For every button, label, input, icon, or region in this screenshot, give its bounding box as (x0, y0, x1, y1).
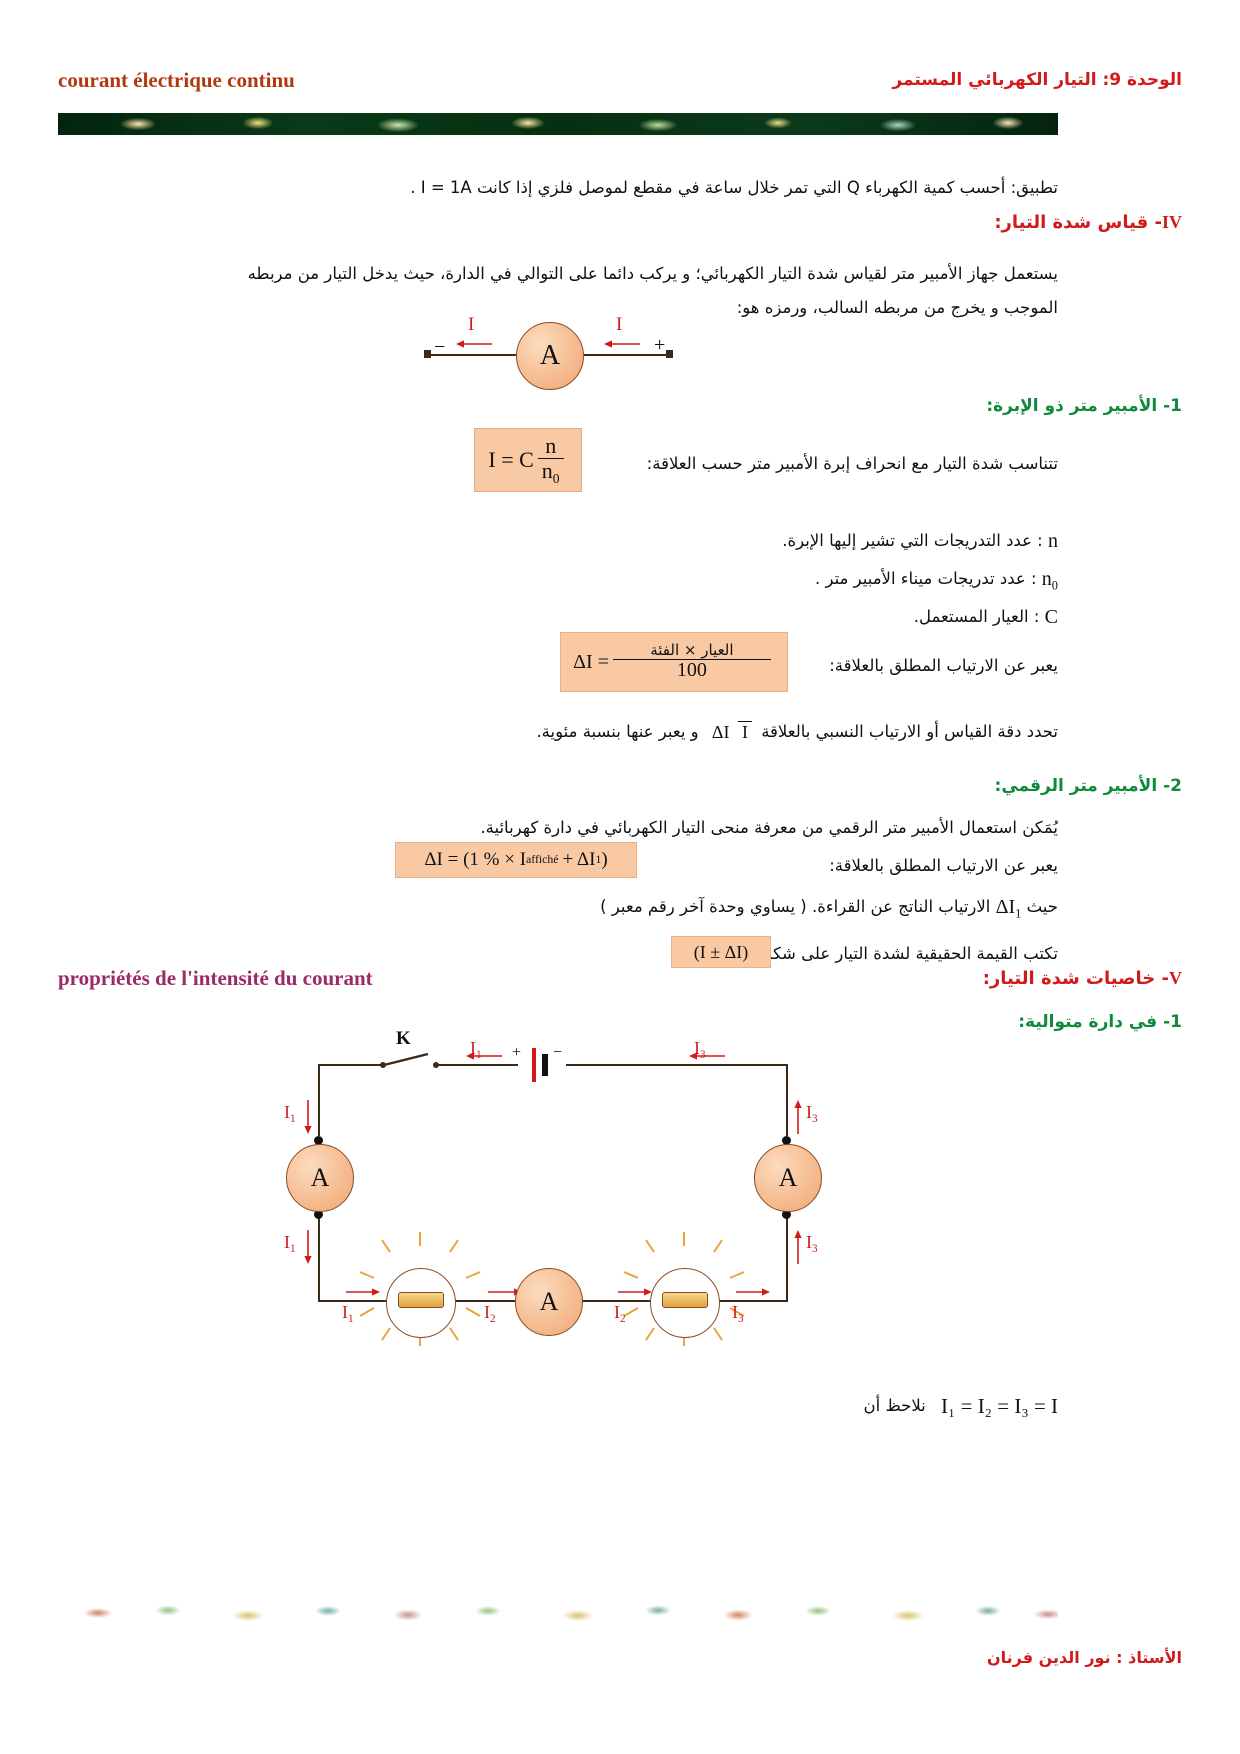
definition-C: C : العيار المستعمل. (58, 598, 1058, 637)
lamp-right-filament (662, 1292, 708, 1308)
formula-true-value-text: (I ± ΔI) (694, 942, 748, 963)
section-IV-paragraph-1: يستعمل جهاز الأمبير متر لقياس شدة التيار… (58, 258, 1058, 290)
relative-uncertainty-text-b: و يعبر عنها بنسبة مئوية. (536, 722, 698, 741)
label-I1-left-lower: I1 (284, 1232, 296, 1255)
ammeter-middle: A (515, 1268, 583, 1336)
formula-den-sub: 0 (553, 470, 560, 485)
relative-uncertainty-line: تحدد دقة القياس أو الارتياب النسبي بالعل… (58, 716, 1058, 748)
formula-relative-num: ΔI (708, 722, 734, 742)
ammeter-left: A (286, 1144, 354, 1212)
header-decorative-band (58, 113, 1058, 135)
formula-deltaI-lhs: ΔI = (573, 651, 609, 674)
proportionality-text: تتناسب شدة التيار مع انحراف إبرة الأمبير… (647, 454, 1058, 473)
header-left-title: courant électrique continu (58, 68, 295, 93)
where-prefix: حيث (1027, 897, 1058, 916)
formula-numerator: n (541, 434, 560, 457)
definition-n: n : عدد التدريجات التي تشير إليها الإبرة… (58, 522, 1058, 561)
battery-minus-label: − (553, 1044, 562, 1062)
label-current-left: I (468, 314, 474, 336)
formula-digital-uncertainty: ΔI = (1 % × Iaffiché+ ΔI1) (395, 842, 637, 878)
formula-digital-tail: + ΔI (562, 849, 595, 871)
formula-relative-uncertainty: ΔI I (708, 723, 752, 742)
observation-formula: I₁ = I₂ = I₃ = I (941, 1386, 1058, 1427)
section-V-heading: V- خاصيات شدة التيار: (983, 968, 1182, 989)
relative-uncertainty-text-a: تحدد دقة القياس أو الارتياب النسبي بالعل… (761, 722, 1058, 741)
ammeter-right-letter: A (779, 1163, 798, 1193)
where-line: حيث ΔI1 الارتياب الناتج عن القراءة. ( يس… (58, 888, 1058, 927)
formula-absolute-uncertainty: ΔI = العيار × الفئة 100 (560, 632, 788, 692)
formula-den-base: n (542, 458, 553, 483)
battery-long-plate (532, 1048, 536, 1082)
label-I3-top-sub: 3 (700, 1049, 706, 1061)
digital-ammeter-line: يُمَكن استعمال الأمبير متر الرقمي من معر… (58, 812, 1058, 844)
section-IV-heading: IV- قياس شدة التيار: (994, 212, 1182, 233)
footer-decorative-band (58, 1600, 1058, 1626)
absolute-uncertainty-line: يعبر عن الارتياب المطلق بالعلاقة: (58, 650, 1058, 682)
section-IV-title: - قياس شدة التيار: (994, 212, 1162, 233)
label-I3-rl-sub: 3 (812, 1243, 818, 1255)
application-paragraph: تطبيق: أحسب كمية الكهرباء Q التي تمر خلا… (58, 172, 1058, 204)
label-I3-bottom: I3 (732, 1302, 744, 1325)
label-I3-top: I3 (694, 1038, 706, 1061)
symbol-n0-sub: 0 (1052, 578, 1058, 592)
label-I2-bl-sub: 2 (490, 1313, 496, 1325)
symbol-n: n (1048, 522, 1058, 561)
formula-uncertainty-numerator: العيار × الفئة (646, 643, 737, 659)
formula-fraction: n n0 (538, 434, 564, 485)
footer-text: الأستاذ : نور الدين فرنان (987, 1648, 1182, 1667)
formula-digital-lhs: ΔI = (1 % × I (424, 849, 526, 871)
label-I3-b-sub: 3 (738, 1313, 744, 1325)
lamp-left-filament (398, 1292, 444, 1308)
formula-digital-sub: affiché (526, 853, 558, 867)
label-I2-br-sub: 2 (620, 1313, 626, 1325)
formula-digital-close: ) (601, 849, 607, 871)
definition-n0: n0 : عدد تدريجات ميناء الأمبير متر . (58, 560, 1058, 599)
label-I1-left-upper: I1 (284, 1102, 296, 1125)
symbol-n0-base: n (1042, 568, 1052, 590)
formula-denominator: n0 (538, 458, 564, 486)
label-I1-ll-sub: 1 (290, 1243, 296, 1255)
subsection-2-heading: 2- الأمبير متر الرقمي: (995, 776, 1182, 796)
ammeter-left-letter: A (311, 1163, 330, 1193)
section-V-number: V (1169, 968, 1182, 988)
definition-n-text: : عدد التدريجات التي تشير إليها الإبرة. (782, 531, 1042, 550)
label-I1-top: I1 (470, 1038, 482, 1061)
label-I3-ru-sub: 3 (812, 1113, 818, 1125)
battery-short-plate (542, 1054, 548, 1076)
symbol-n0: n0 (1042, 560, 1058, 599)
subsection-1-heading: 1- الأمبير متر ذو الإبرة: (986, 396, 1182, 416)
series-circuit-figure: + − K A A A I1 I3 (270, 1040, 870, 1370)
label-I1-top-sub: 1 (476, 1049, 482, 1061)
formula-uncertainty-fraction: العيار × الفئة 100 (613, 643, 771, 681)
ammeter-symbol-figure: A I I − + (420, 316, 700, 396)
symbol-deltaI1-base: ΔI (996, 896, 1016, 918)
observation-prefix: نلاحظ أن (864, 1396, 926, 1415)
formula-I-equals-C-n-over-n0: I = C n n0 (474, 428, 582, 492)
where-text: الارتياب الناتج عن القراءة. ( يساوي وحدة… (600, 897, 990, 916)
section-V-title: - خاصيات شدة التيار: (983, 968, 1169, 989)
section-IV-number: IV (1162, 212, 1182, 232)
formula-relative-den: I (738, 721, 752, 742)
label-I1-b-sub: 1 (348, 1313, 354, 1325)
label-I1-bottom: I1 (342, 1302, 354, 1325)
observation-line: I₁ = I₂ = I₃ = I نلاحظ أن (58, 1386, 1058, 1427)
ammeter-middle-letter: A (540, 1287, 559, 1317)
label-I1-lu-sub: 1 (290, 1113, 296, 1125)
definition-C-text: : العيار المستعمل. (914, 607, 1040, 626)
document-page: courant électrique continu الوحدة 9: الت… (0, 0, 1240, 1754)
application-text: تطبيق: أحسب كمية الكهرباء Q التي تمر خلا… (410, 178, 1058, 197)
header-right-title: الوحدة 9: التيار الكهربائي المستمر (892, 70, 1182, 90)
terminal-plus-label: + (654, 334, 665, 357)
symbol-deltaI1: ΔI1 (996, 888, 1022, 927)
label-current-right: I (616, 314, 622, 336)
switch-label: K (396, 1028, 411, 1050)
terminal-minus-label: − (434, 336, 445, 359)
ammeter-right: A (754, 1144, 822, 1212)
symbol-deltaI1-sub: 1 (1015, 906, 1021, 920)
label-I3-right-lower: I3 (806, 1232, 818, 1255)
formula-lhs: I = C (488, 447, 533, 473)
battery-plus-label: + (512, 1044, 521, 1062)
section-V-french-title: propriétés de l'intensité du courant (58, 966, 373, 991)
label-I2-bottom-left: I2 (484, 1302, 496, 1325)
label-I3-right-upper: I3 (806, 1102, 818, 1125)
label-I2-bottom-right: I2 (614, 1302, 626, 1325)
formula-true-value: (I ± ΔI) (671, 936, 771, 968)
definition-n0-text: : عدد تدريجات ميناء الأمبير متر . (815, 569, 1037, 588)
symbol-C: C (1045, 598, 1058, 637)
formula-uncertainty-denominator: 100 (613, 659, 771, 681)
subsection-V-1-heading: 1- في دارة متوالية: (1018, 1012, 1182, 1032)
